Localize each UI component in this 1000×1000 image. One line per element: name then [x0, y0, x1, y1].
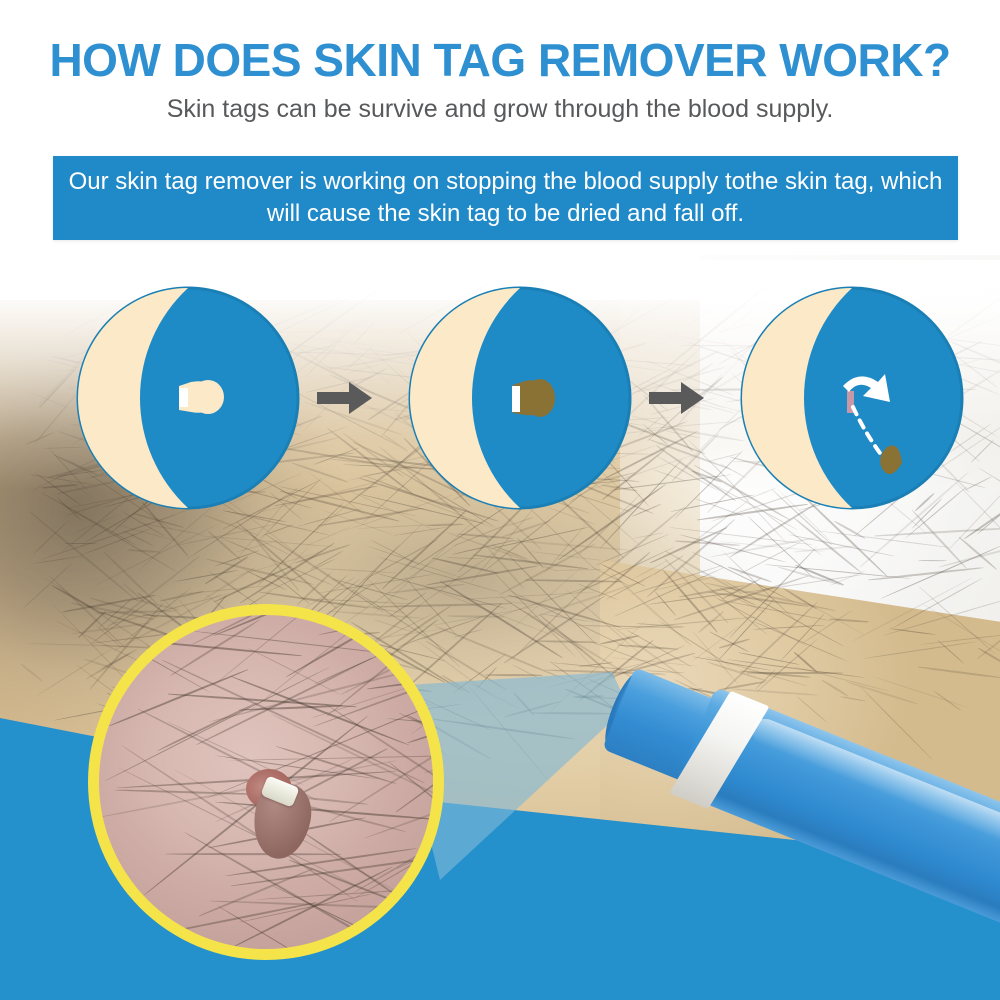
diagram-step-1[interactable]	[75, 285, 301, 511]
page-subtitle: Skin tags can be survive and grow throug…	[0, 94, 1000, 124]
diagram-step-2[interactable]	[407, 285, 633, 511]
infographic-page: HOW DOES SKIN TAG REMOVER WORK? Skin tag…	[0, 0, 1000, 1000]
info-banner-text: Our skin tag remover is working on stopp…	[53, 166, 958, 230]
magnifier-circle[interactable]	[88, 604, 444, 960]
magnifier-content	[99, 615, 433, 949]
arrow-right-icon	[647, 378, 707, 418]
arrow-right-icon	[315, 378, 375, 418]
diagram-step-3[interactable]	[739, 285, 965, 511]
closeup-skin-tag	[246, 767, 314, 859]
page-title: HOW DOES SKIN TAG REMOVER WORK?	[0, 36, 1000, 84]
info-banner: Our skin tag remover is working on stopp…	[53, 156, 958, 240]
